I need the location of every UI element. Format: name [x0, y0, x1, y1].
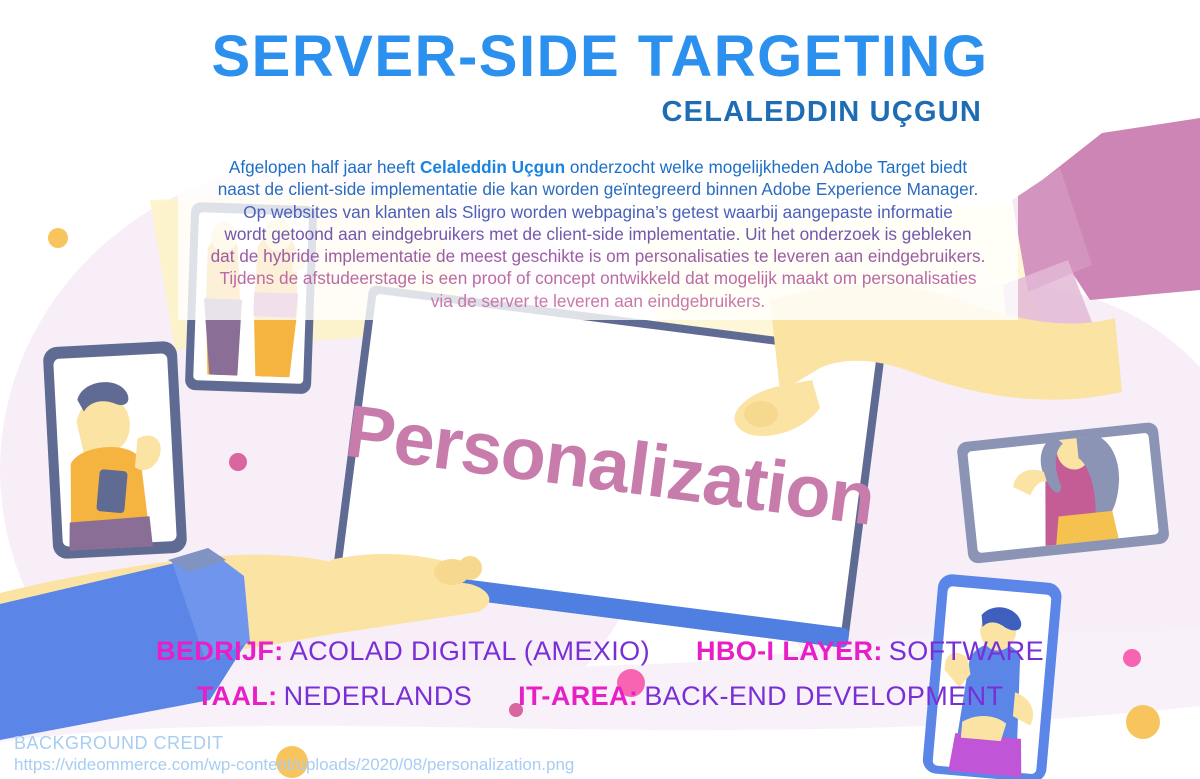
- author-name-inline: Celaleddin Uçgun: [420, 157, 565, 177]
- meta-item-hboi-layer: HBO-I LAYER:SOFTWARE: [696, 636, 1044, 667]
- credit-title: BACKGROUND CREDIT: [14, 733, 574, 755]
- abstract-line-6: Tijdens de afstudeerstage is een proof o…: [186, 267, 1010, 289]
- poster-canvas: Personalization SERVER-SIDE TARGETING CE…: [0, 0, 1200, 779]
- abstract-line-1: Afgelopen half jaar heeft Celaleddin Uçg…: [186, 156, 1010, 178]
- background-credit: BACKGROUND CREDIT https://videommerce.co…: [14, 733, 574, 776]
- abstract-line-5: dat de hybride implementatie de meest ge…: [186, 245, 1010, 267]
- meta-item-it-area: IT-AREA:BACK-END DEVELOPMENT: [518, 681, 1003, 712]
- meta-row-2: TAAL:NEDERLANDS IT-AREA:BACK-END DEVELOP…: [0, 681, 1200, 712]
- abstract-line1-suffix: onderzocht welke mogelijkheden Adobe Tar…: [565, 157, 967, 177]
- credit-url[interactable]: https://videommerce.com/wp-content/uploa…: [14, 755, 574, 776]
- meta-item-taal: TAAL:NEDERLANDS: [197, 681, 473, 712]
- meta-label-it-area: IT-AREA:: [518, 681, 638, 711]
- meta-value-taal: NEDERLANDS: [284, 681, 473, 711]
- meta-footer: BEDRIJF:ACOLAD DIGITAL (AMEXIO) HBO-I LA…: [0, 636, 1200, 726]
- abstract-line1-prefix: Afgelopen half jaar heeft: [229, 157, 420, 177]
- meta-value-hboi-layer: SOFTWARE: [889, 636, 1044, 666]
- abstract-line-4: wordt getoond aan eindgebruikers met de …: [186, 223, 1010, 245]
- meta-value-bedrijf: ACOLAD DIGITAL (AMEXIO): [290, 636, 650, 666]
- author-subtitle: CELALEDDIN UÇGUN: [0, 96, 1200, 129]
- abstract-line-7: via de server te leveren aan eindgebruik…: [186, 290, 1010, 312]
- poster-header: SERVER-SIDE TARGETING CELALEDDIN UÇGUN: [0, 28, 1200, 129]
- meta-row-1: BEDRIJF:ACOLAD DIGITAL (AMEXIO) HBO-I LA…: [0, 636, 1200, 667]
- abstract-line-3: Op websites van klanten als Sligro worde…: [186, 201, 1010, 223]
- abstract-line-2: naast de client-side implementatie die k…: [186, 178, 1010, 200]
- meta-value-it-area: BACK-END DEVELOPMENT: [644, 681, 1003, 711]
- page-title: SERVER-SIDE TARGETING: [0, 28, 1200, 86]
- abstract-panel: Afgelopen half jaar heeft Celaleddin Uçg…: [178, 150, 1018, 320]
- meta-item-bedrijf: BEDRIJF:ACOLAD DIGITAL (AMEXIO): [156, 636, 650, 667]
- meta-label-taal: TAAL:: [197, 681, 278, 711]
- dot: [48, 228, 68, 248]
- meta-label-hboi-layer: HBO-I LAYER:: [696, 636, 883, 666]
- meta-label-bedrijf: BEDRIJF:: [156, 636, 284, 666]
- abstract-text: Afgelopen half jaar heeft Celaleddin Uçg…: [186, 156, 1010, 312]
